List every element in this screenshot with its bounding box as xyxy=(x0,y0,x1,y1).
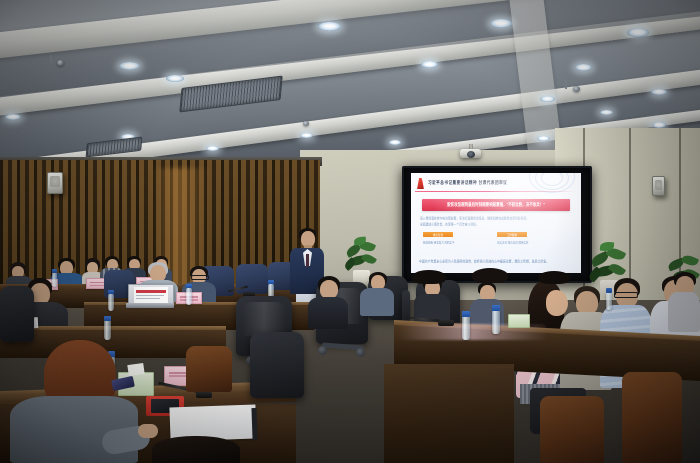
water-bottle xyxy=(606,292,612,310)
ceiling-downlight xyxy=(600,110,613,115)
water-bottle xyxy=(186,288,192,305)
sprinkler-head xyxy=(303,121,309,126)
water-bottle xyxy=(108,294,114,311)
slide-title: 习近平总书记重要讲话精神 甘肃代表团审议 xyxy=(428,180,507,186)
sprinkler-pipe xyxy=(50,55,52,63)
attendee-lightblue-midright xyxy=(360,272,394,316)
water-bottle xyxy=(492,310,500,334)
slide-footer: 中国共产党是全心全意为人民服务的政党，始终把人民放在心中最高位置，想民之所想，急… xyxy=(419,259,549,264)
bottle-cap xyxy=(462,311,470,317)
ceiling-downlight xyxy=(627,28,649,37)
attendee-back-right-pair xyxy=(668,272,700,332)
eyeglasses-icon xyxy=(614,292,638,298)
bottle-cap xyxy=(52,269,57,273)
bottle-cap xyxy=(606,288,612,293)
sprinkler-head xyxy=(57,60,64,66)
ceiling-downlight xyxy=(206,146,219,151)
slide-tag-column: 精准施策 精准发力 真抓实干 xyxy=(423,241,454,247)
ceiling-downlight xyxy=(575,64,592,71)
ceiling-downlight xyxy=(119,62,140,70)
wall-speaker xyxy=(47,172,63,194)
chair-blue-back[interactable] xyxy=(236,264,268,294)
chair-wood-frame[interactable] xyxy=(622,372,682,463)
chair-caster xyxy=(318,346,327,355)
torch-emblem-icon xyxy=(416,178,425,189)
ceiling-downlight xyxy=(490,19,512,28)
ceiling-downlight xyxy=(421,61,438,68)
bottle-cap xyxy=(108,290,114,294)
sprinkler-head xyxy=(573,86,580,92)
tissue-box xyxy=(508,314,530,328)
slide-tag-label: 重点任务 xyxy=(433,232,443,237)
ceiling-downlight xyxy=(651,89,667,95)
chair-caster xyxy=(356,348,365,357)
laptop[interactable] xyxy=(126,284,174,310)
notepad-binding xyxy=(251,408,257,440)
chair-wood-frame[interactable] xyxy=(540,396,604,463)
conference-room-photo: 习近平总书记重要讲话精神 甘肃代表团审议 脱贫攻坚越到最后时刻越要响鼓重锤，"不… xyxy=(0,0,700,463)
water-bottle xyxy=(462,316,470,340)
projection-screen[interactable]: 习近平总书记重要讲话精神 甘肃代表团审议 脱贫攻坚越到最后时刻越要响鼓重锤，"不… xyxy=(402,166,592,283)
ceiling-downlight xyxy=(318,22,341,31)
slide-paragraph: 全面建成小康社会，实现第一个百年奋斗目标。 xyxy=(420,222,479,228)
woman-grey-blazer-foreground xyxy=(10,340,140,463)
necktie xyxy=(306,254,309,267)
water-bottle xyxy=(104,320,111,340)
slide-banner-text: 脱贫攻坚越到最后时刻越要响鼓重锤，"不获全胜，决不收兵！" xyxy=(447,202,545,208)
bottle-cap xyxy=(104,316,111,321)
attendee-foreground-partial xyxy=(152,436,240,463)
eyeglasses-icon xyxy=(191,275,209,280)
ceiling-downlight xyxy=(389,140,401,145)
ceiling-downlight xyxy=(166,75,184,82)
ceiling-downlight xyxy=(537,136,550,141)
bottle-cap xyxy=(268,280,274,284)
attendee-dark-suit-center xyxy=(308,276,348,328)
slide-tag: 工作要求 xyxy=(497,232,527,237)
slide-banner: 脱贫攻坚越到最后时刻越要响鼓重锤，"不获全胜，决不收兵！" xyxy=(422,199,570,211)
slide-tag-column: 压实责任 强化监督 确保实效 xyxy=(497,241,528,247)
bottle-cap xyxy=(186,284,192,288)
ceiling-projector xyxy=(458,144,484,160)
bottle-cap xyxy=(492,305,500,311)
chair-executive[interactable] xyxy=(250,332,304,398)
ceiling-downlight xyxy=(300,133,313,138)
presentation-slide: 习近平总书记重要讲话精神 甘肃代表团审议 脱贫攻坚越到最后时刻越要响鼓重锤，"不… xyxy=(411,173,581,273)
sprinkler-pipe xyxy=(565,80,567,89)
slide-tag-label: 工作要求 xyxy=(507,232,517,237)
slide-header: 习近平总书记重要讲话精神 甘肃代表团审议 xyxy=(416,177,576,190)
wall-speaker xyxy=(652,176,665,196)
ceiling-downlight xyxy=(540,96,555,102)
ceiling-downlight xyxy=(5,114,21,120)
screen-foreground-heads xyxy=(404,268,586,282)
slide-divider xyxy=(415,191,577,192)
microphone-base xyxy=(196,392,212,398)
microphone-base xyxy=(438,320,454,326)
slide-tag: 重点任务 xyxy=(423,232,453,237)
chair-executive[interactable] xyxy=(0,286,34,342)
chair-wood-frame[interactable] xyxy=(186,346,232,392)
